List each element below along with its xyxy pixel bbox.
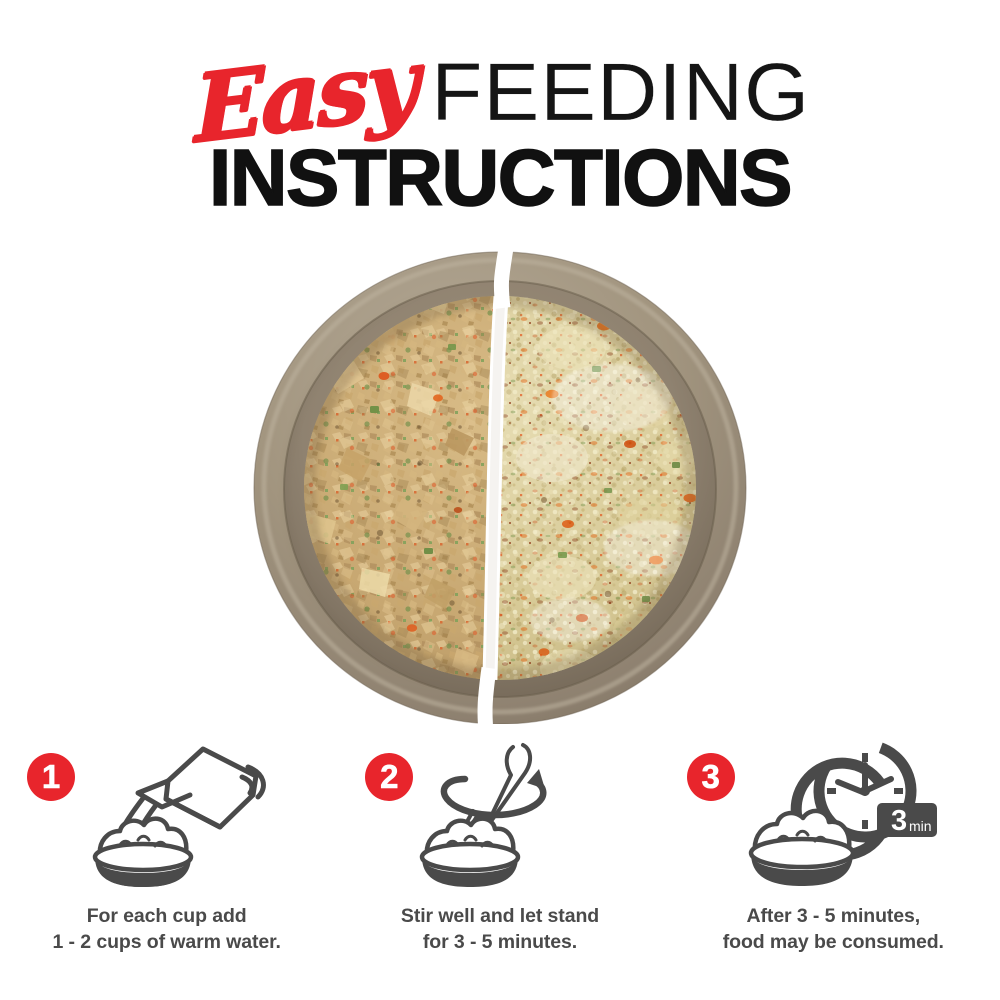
title-line-two: INSTRUCTIONS bbox=[0, 138, 1000, 218]
title-word-feeding: FEEDING bbox=[431, 52, 810, 134]
step-1-caption-line-1: For each cup add bbox=[0, 903, 333, 929]
pitcher-pouring-water-into-bowl-icon bbox=[60, 735, 270, 887]
feeding-step-2: 2 bbox=[333, 735, 666, 965]
page-title-block: Easy FEEDING INSTRUCTIONS bbox=[0, 0, 1000, 235]
bowl-illustration bbox=[252, 248, 748, 724]
step-1-caption-line-2: 1 - 2 cups of warm water. bbox=[0, 929, 333, 955]
feeding-step-1: 1 bbox=[0, 735, 333, 965]
dog-bowl-icon bbox=[751, 811, 853, 886]
step-3-caption-line-2: food may be consumed. bbox=[667, 929, 1000, 955]
step-3-artwork: 3 bbox=[667, 735, 1000, 885]
stir-arrow-head bbox=[527, 769, 545, 789]
dog-food-bowl-split-comparison bbox=[252, 248, 748, 724]
step-2-caption-line-2: for 3 - 5 minutes. bbox=[333, 929, 666, 955]
timer-badge: 3 min bbox=[877, 803, 937, 837]
clock-timer-with-bowl-icon: 3 min bbox=[725, 735, 955, 887]
title-word-instructions: INSTRUCTIONS bbox=[209, 133, 791, 222]
title-line-one: Easy FEEDING bbox=[0, 38, 1000, 148]
step-2-caption-line-1: Stir well and let stand bbox=[333, 903, 666, 929]
feeding-step-3: 3 bbox=[667, 735, 1000, 965]
step-2-artwork: 2 bbox=[333, 735, 666, 885]
dog-bowl-icon bbox=[422, 819, 518, 887]
timer-badge-value: 3 bbox=[891, 805, 907, 837]
step-2-caption: Stir well and let stand for 3 - 5 minute… bbox=[333, 903, 666, 955]
feeding-steps-row: 1 bbox=[0, 735, 1000, 965]
step-3-caption: After 3 - 5 minutes, food may be consume… bbox=[667, 903, 1000, 955]
split-divider-top bbox=[501, 248, 507, 308]
fork-stirring-bowl-icon bbox=[395, 735, 595, 887]
step-3-caption-line-1: After 3 - 5 minutes, bbox=[667, 903, 1000, 929]
timer-badge-unit: min bbox=[909, 818, 932, 834]
split-divider-bottom bbox=[485, 668, 489, 724]
dog-bowl-icon bbox=[95, 819, 191, 887]
step-1-artwork: 1 bbox=[0, 735, 333, 885]
step-1-caption: For each cup add 1 - 2 cups of warm wate… bbox=[0, 903, 333, 955]
